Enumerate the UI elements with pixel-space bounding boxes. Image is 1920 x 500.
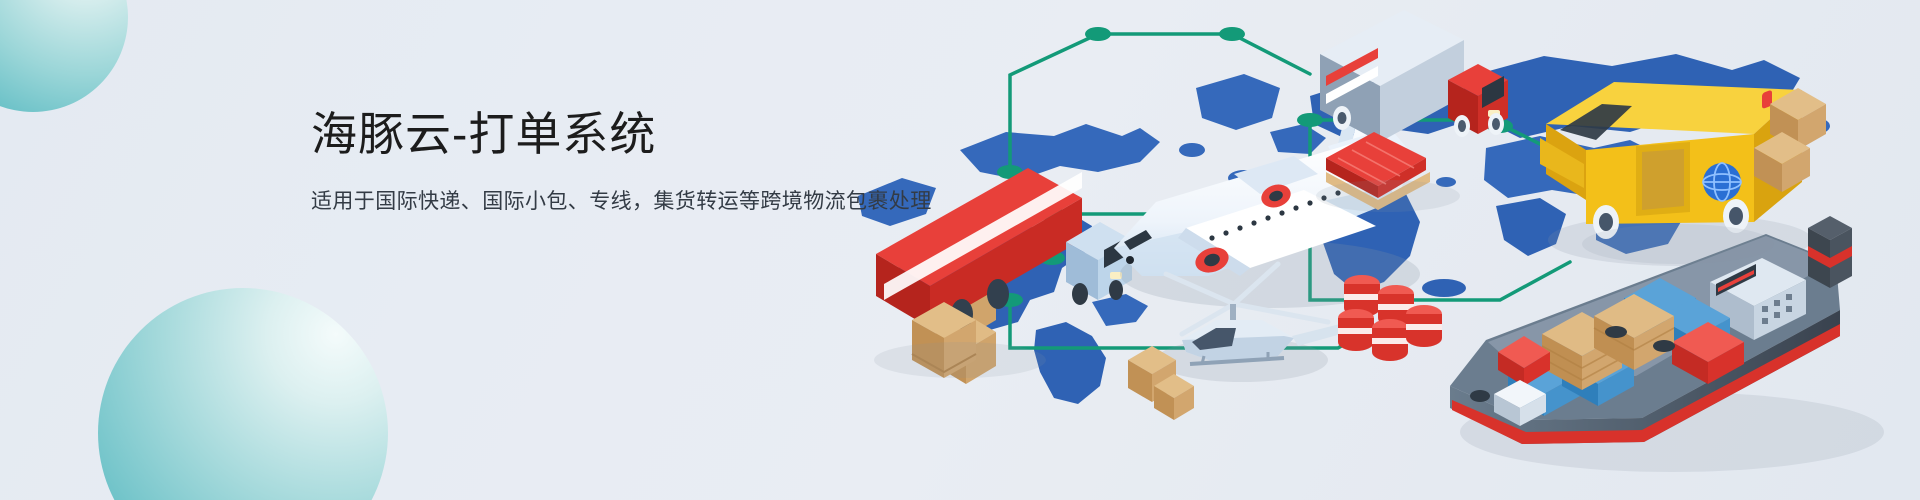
map-greenland	[1196, 74, 1280, 130]
hero-banner: 海豚云-打单系统 适用于国际快递、国际小包、专线，集货转运等跨境物流包裹处理	[0, 0, 1920, 500]
gray-box-truck	[1320, 10, 1508, 142]
network-node	[1297, 113, 1323, 127]
map-central-america	[1092, 294, 1148, 326]
map-canada	[960, 124, 1160, 180]
map-island-2	[1179, 143, 1205, 157]
banner-copy: 海豚云-打单系统 适用于国际快递、国际小包、专线，集货转运等跨境物流包裹处理	[311, 106, 932, 217]
network-node	[1085, 27, 1111, 41]
decorative-circle-bottom-left	[98, 288, 388, 500]
global-logistics-illustration	[840, 0, 1920, 500]
network-node	[1219, 27, 1245, 41]
map-south-america	[1034, 322, 1106, 404]
decorative-circle-top-left	[0, 0, 128, 112]
page-title: 海豚云-打单系统	[311, 106, 932, 164]
page-subtitle: 适用于国际快递、国际小包、专线，集货转运等跨境物流包裹处理	[311, 186, 932, 218]
map-uk	[1270, 124, 1326, 154]
map-island-4	[1422, 279, 1466, 297]
